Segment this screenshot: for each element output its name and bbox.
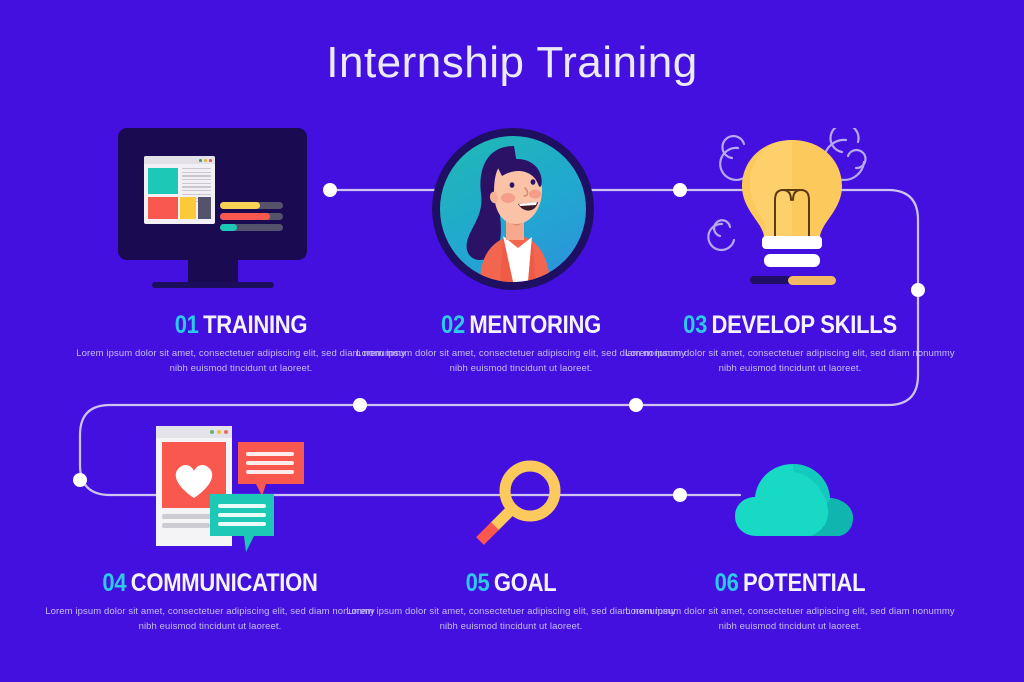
content-block-yellow [180, 197, 196, 219]
infographic-canvas: Internship Training [0, 0, 1024, 682]
step-number: 05 [466, 569, 490, 597]
portrait-image [440, 136, 586, 282]
content-text-lines [182, 168, 211, 200]
chat-bubbles-icon [150, 424, 310, 554]
monitor-screen [118, 128, 307, 260]
step-develop-skills[interactable]: 03DEVELOP SKILLS Lorem ipsum dolor sit a… [620, 313, 960, 376]
connector-node [323, 183, 337, 197]
browser-window [144, 156, 215, 224]
connector-node [911, 283, 925, 297]
step-title: MENTORING [469, 311, 601, 339]
progress-bar-red [220, 213, 283, 220]
connector-node [673, 488, 687, 502]
content-block-gray [198, 197, 211, 219]
lightbulb-icon [692, 128, 892, 288]
magnifier-icon [474, 458, 569, 553]
step-title: TRAINING [203, 311, 307, 339]
step-potential[interactable]: 06POTENTIAL Lorem ipsum dolor sit amet, … [620, 571, 960, 634]
monitor-stand-neck [188, 260, 238, 284]
cloud-icon [733, 452, 861, 552]
monitor-icon [118, 128, 323, 283]
step-heading: 05GOAL [361, 571, 660, 596]
step-number: 01 [175, 311, 199, 339]
step-title: GOAL [494, 569, 557, 597]
step-number: 06 [715, 569, 739, 597]
browser-titlebar [144, 156, 215, 164]
step-heading: 06POTENTIAL [640, 571, 939, 596]
step-heading: 01TRAINING [91, 313, 390, 338]
connector-node [353, 398, 367, 412]
progress-bar-teal [220, 224, 283, 231]
window-dot-green [199, 159, 202, 162]
content-block-teal [148, 168, 178, 194]
step-heading: 04COMMUNICATION [60, 571, 359, 596]
step-description: Lorem ipsum dolor sit amet, consectetuer… [620, 605, 960, 634]
window-dot-red [209, 159, 212, 162]
step-number: 02 [441, 311, 465, 339]
step-heading: 03DEVELOP SKILLS [640, 313, 939, 338]
step-number: 03 [683, 311, 707, 339]
window-dot-yellow [204, 159, 207, 162]
step-number: 04 [102, 569, 126, 597]
connector-node [673, 183, 687, 197]
connector-node [73, 473, 87, 487]
monitor-stand-base [152, 282, 274, 288]
content-block-red [148, 197, 178, 219]
step-description: Lorem ipsum dolor sit amet, consectetuer… [40, 605, 380, 634]
step-title: DEVELOP SKILLS [711, 311, 896, 339]
connector-node [629, 398, 643, 412]
step-description: Lorem ipsum dolor sit amet, consectetuer… [620, 347, 960, 376]
mentor-portrait-icon [432, 128, 594, 290]
step-title: COMMUNICATION [131, 569, 318, 597]
step-title: POTENTIAL [743, 569, 865, 597]
step-communication[interactable]: 04COMMUNICATION Lorem ipsum dolor sit am… [40, 571, 380, 634]
progress-bar-yellow [220, 202, 283, 209]
